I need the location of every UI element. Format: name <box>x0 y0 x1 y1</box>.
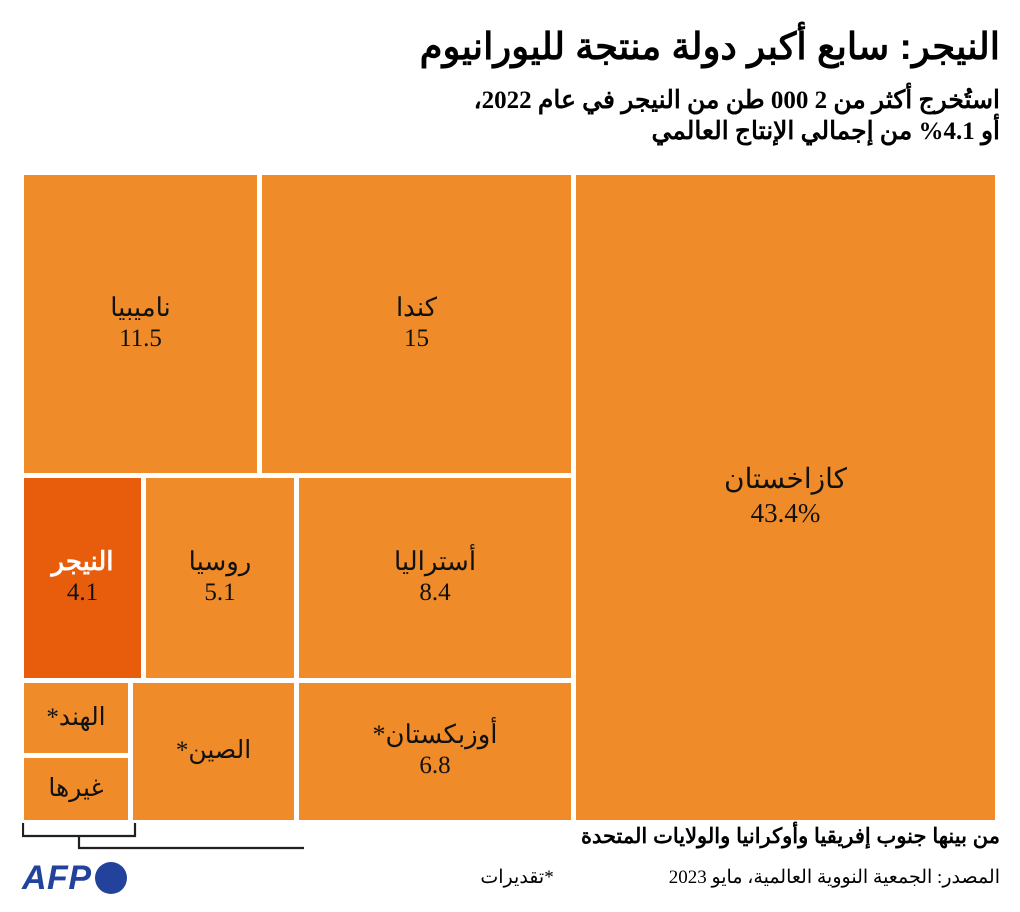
subtitle-line-2: أو 4.1% من إجمالي الإنتاج العالمي <box>20 117 1000 148</box>
treemap-cell-namibia[interactable]: ناميبيا 11.5 <box>24 175 257 473</box>
treemap-cell-others[interactable]: غيرها <box>24 758 128 820</box>
treemap-cell-label: أوزبكستان* <box>373 720 498 750</box>
afp-dot-icon <box>95 862 127 894</box>
treemap-cell-label: روسيا <box>189 547 252 577</box>
treemap-cell-label: النيجر <box>52 547 114 577</box>
treemap-cell-value: 4.1 <box>67 577 98 610</box>
treemap-cell-value: 15 <box>404 323 429 356</box>
treemap-cell-label: كازاخستان <box>724 464 847 496</box>
treemap-cell-niger[interactable]: النيجر 4.1 <box>24 478 141 678</box>
estimates-note: *تقديرات <box>480 866 553 889</box>
treemap-cell-value: 5.1 <box>204 577 235 610</box>
subtitle-line-1: استُخرج أكثر من 2 000 طن من النيجر في عا… <box>20 86 1000 117</box>
bracket-note: من بينها جنوب إفريقيا وأوكرانيا والولايا… <box>160 824 1000 849</box>
afp-wordmark: AFP <box>22 861 92 895</box>
treemap-cell-value: 11.5 <box>119 323 162 356</box>
treemap-cell-value: 8.4 <box>419 577 450 610</box>
treemap-cell-label: الهند* <box>46 704 105 733</box>
treemap-cell-india[interactable]: الهند* <box>24 683 128 753</box>
treemap-cell-value: 6.8 <box>419 750 450 783</box>
treemap-cell-australia[interactable]: أستراليا 8.4 <box>299 478 571 678</box>
page-title: النيجر: سابع أكبر دولة منتجة لليورانيوم <box>20 26 1000 67</box>
treemap-cell-kazakhstan[interactable]: كازاخستان 43.4% <box>576 175 995 820</box>
treemap-cell-russia[interactable]: روسيا 5.1 <box>146 478 294 678</box>
treemap-cell-label: أستراليا <box>394 547 476 577</box>
infographic-header: النيجر: سابع أكبر دولة منتجة لليورانيوم … <box>0 0 1020 170</box>
treemap-cell-label: ناميبيا <box>110 293 171 323</box>
treemap-cell-canada[interactable]: كندا 15 <box>262 175 571 473</box>
treemap-cell-label: كندا <box>396 293 437 323</box>
treemap-cell-value: 43.4% <box>751 496 821 531</box>
treemap-cell-uzbekistan[interactable]: أوزبكستان* 6.8 <box>299 683 571 820</box>
treemap-cell-label: غيرها <box>48 775 103 804</box>
afp-logo: AFP <box>22 856 172 900</box>
treemap-cell-china[interactable]: الصين* <box>133 683 294 820</box>
source-text: المصدر: الجمعية النووية العالمية، مايو 2… <box>669 866 1000 889</box>
subtitle: استُخرج أكثر من 2 000 طن من النيجر في عا… <box>20 86 1000 147</box>
source-line: المصدر: الجمعية النووية العالمية، مايو 2… <box>250 866 1000 889</box>
treemap-chart: كازاخستان 43.4% كندا 15 ناميبيا 11.5 أست… <box>24 175 995 820</box>
treemap-cell-label: الصين* <box>176 737 251 766</box>
